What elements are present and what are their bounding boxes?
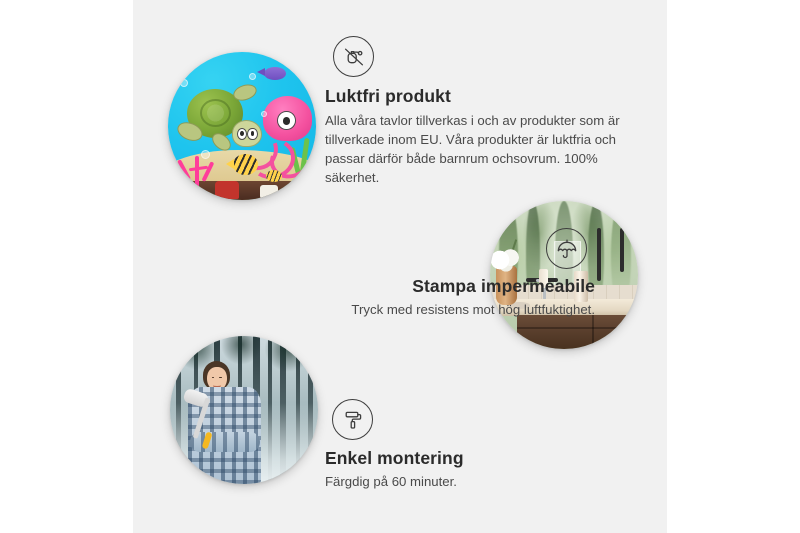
feature-odour-free: Luktfri produkt Alla våra tavlor tillver… — [325, 36, 630, 188]
feature-description: Tryck med resistens mot hög luftfuktighe… — [193, 301, 595, 320]
screenshot-stage: Luktfri produkt Alla våra tavlor tillver… — [0, 0, 800, 533]
feature-title: Luktfri produkt — [325, 86, 630, 107]
feature-description: Alla våra tavlor tillverkas i och av pro… — [325, 112, 630, 188]
umbrella-icon — [546, 228, 587, 269]
feature-waterproof-print: Stampa impermeabile Tryck med resistens … — [193, 228, 595, 320]
feature-easy-mounting: Enkel montering Färgdig på 60 minuter. — [325, 399, 625, 492]
feature-description: Färgdig på 60 minuter. — [325, 473, 625, 492]
image-underwater-scene — [168, 52, 316, 200]
product-feature-panel: Luktfri produkt Alla våra tavlor tillver… — [133, 0, 667, 533]
image-forest-decorator — [170, 336, 318, 484]
paint-roller-icon — [332, 399, 373, 440]
feature-title: Enkel montering — [325, 448, 625, 469]
feature-title: Stampa impermeabile — [193, 276, 595, 297]
no-perfume-icon — [333, 36, 374, 77]
